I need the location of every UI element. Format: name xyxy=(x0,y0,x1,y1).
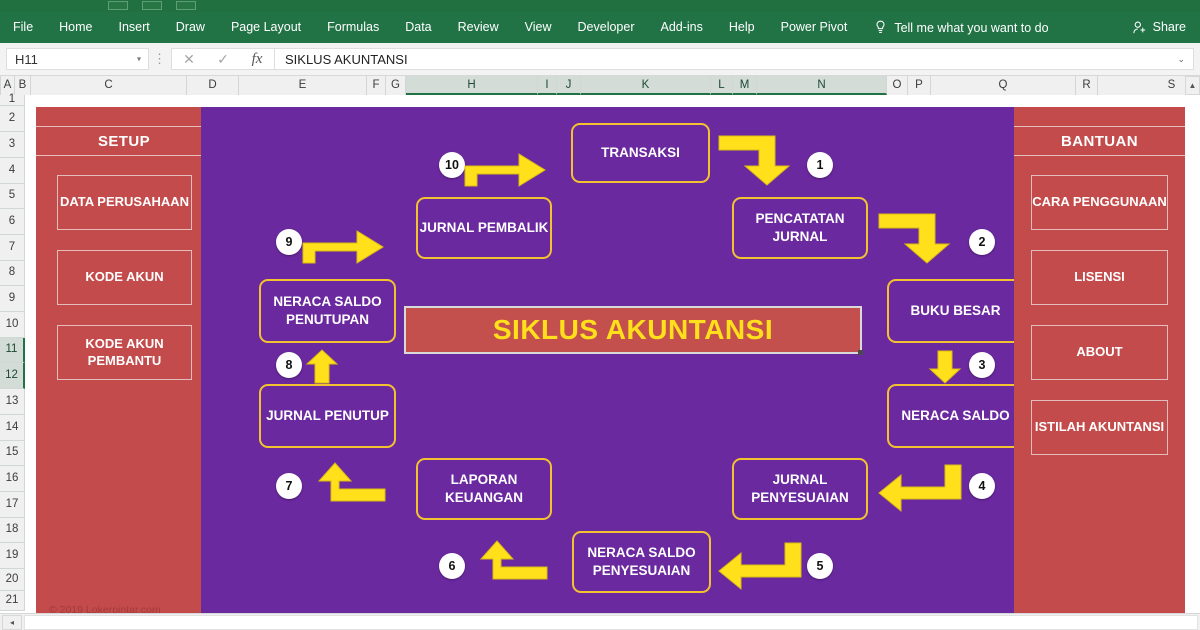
step-badge-2: 2 xyxy=(969,229,995,255)
diagram-node-label: JURNAL PEMBALIK xyxy=(420,219,549,237)
scroll-left-icon[interactable]: ◂ xyxy=(2,615,22,630)
diagram-node-label: BUKU BESAR xyxy=(910,302,1000,320)
arrow-step-4 xyxy=(877,463,963,515)
diagram-node-label: NERACA SALDO xyxy=(901,407,1009,425)
row-header-column: 123456789101112131415161718192021 xyxy=(0,95,25,613)
column-header-row: ABCDEFGHIJKLMNOPQRST xyxy=(0,76,1200,95)
ribbon-tab-home[interactable]: Home xyxy=(46,12,105,43)
column-header-D[interactable]: D xyxy=(187,76,239,95)
row-header-12[interactable]: 12 xyxy=(0,363,25,389)
horizontal-scroll-track[interactable] xyxy=(24,615,1198,630)
diagram-node-label: JURNAL PENYESUAIAN xyxy=(734,471,866,506)
row-header-10[interactable]: 10 xyxy=(0,312,25,338)
setup-panel: SETUP DATA PERUSAHAANKODE AKUNKODE AKUN … xyxy=(36,107,212,613)
formula-bar-buttons: ✕ ✓ fx xyxy=(171,48,275,70)
undo-icon[interactable] xyxy=(142,1,162,10)
share-button[interactable]: Share xyxy=(1132,12,1186,43)
arrow-step-5 xyxy=(717,541,803,593)
row-header-16[interactable]: 16 xyxy=(0,466,25,492)
diagram-title-text: SIKLUS AKUNTANSI xyxy=(493,314,773,346)
help-button-cara-penggunaan[interactable]: CARA PENGGUNAAN xyxy=(1031,175,1168,230)
diagram-node-transaksi[interactable]: TRANSAKSI xyxy=(571,123,710,183)
ribbon-tab-list[interactable]: FileHomeInsertDrawPage LayoutFormulasDat… xyxy=(0,12,860,43)
arrow-step-2 xyxy=(877,211,959,265)
redo-icon[interactable] xyxy=(176,1,196,10)
arrow-step-6 xyxy=(463,541,549,593)
horizontal-scrollbar[interactable]: ◂ xyxy=(0,613,1200,630)
help-button-istilah-akuntansi[interactable]: ISTILAH AKUNTANSI xyxy=(1031,400,1168,455)
formula-input[interactable]: SIKLUS AKUNTANSI ⌄ xyxy=(275,48,1194,70)
row-header-20[interactable]: 20 xyxy=(0,569,25,591)
help-button-lisensi[interactable]: LISENSI xyxy=(1031,250,1168,305)
accounting-cycle-diagram: TRANSAKSIPENCATATAN JURNALBUKU BESARNERA… xyxy=(201,107,1014,613)
diagram-node-label: TRANSAKSI xyxy=(601,144,680,162)
share-person-icon xyxy=(1132,20,1147,35)
row-header-15[interactable]: 15 xyxy=(0,441,25,466)
diagram-node-jurnal-pembalik[interactable]: JURNAL PEMBALIK xyxy=(416,197,552,259)
column-header-M[interactable]: M xyxy=(733,76,757,95)
row-header-9[interactable]: 9 xyxy=(0,286,25,312)
column-header-I[interactable]: I xyxy=(538,76,557,95)
diagram-node-label: JURNAL PENUTUP xyxy=(266,407,389,425)
setup-button-data-perusahaan[interactable]: DATA PERUSAHAAN xyxy=(57,175,192,230)
column-header-B[interactable]: B xyxy=(15,76,31,95)
excel-window: FileHomeInsertDrawPage LayoutFormulasDat… xyxy=(0,0,1200,630)
copyright-label: © 2019 Lokerpintar.com xyxy=(49,604,161,613)
row-header-11[interactable]: 11 xyxy=(0,338,25,363)
step-badge-10: 10 xyxy=(439,152,465,178)
cancel-icon[interactable]: ✕ xyxy=(172,51,206,68)
name-box[interactable]: H11 ▾ xyxy=(6,48,149,70)
row-header-13[interactable]: 13 xyxy=(0,389,25,415)
diagram-node-neraca-saldo-penutupan[interactable]: NERACA SALDO PENUTUPAN xyxy=(259,279,396,343)
row-header-8[interactable]: 8 xyxy=(0,261,25,286)
ribbon-tab-file[interactable]: File xyxy=(0,12,46,43)
chevron-down-icon[interactable]: ▾ xyxy=(137,55,141,64)
quick-access-toolbar[interactable] xyxy=(108,1,196,10)
formula-bar: H11 ▾ ⋮ ✕ ✓ fx SIKLUS AKUNTANSI ⌄ xyxy=(0,43,1200,76)
ribbon-tab-draw[interactable]: Draw xyxy=(163,12,218,43)
step-badge-4: 4 xyxy=(969,473,995,499)
tell-me-search[interactable]: Tell me what you want to do xyxy=(874,20,1048,35)
setup-panel-title: SETUP xyxy=(36,126,212,156)
step-badge-9: 9 xyxy=(276,229,302,255)
worksheet-canvas: SETUP DATA PERUSAHAANKODE AKUNKODE AKUN … xyxy=(25,95,1185,613)
column-header-R[interactable]: R xyxy=(1076,76,1098,95)
ribbon-tab-insert[interactable]: Insert xyxy=(106,12,163,43)
ribbon-tabs-bar: FileHomeInsertDrawPage LayoutFormulasDat… xyxy=(0,12,1200,43)
ribbon-tab-review[interactable]: Review xyxy=(445,12,512,43)
column-header-E[interactable]: E xyxy=(239,76,367,95)
arrow-step-10 xyxy=(463,142,549,188)
row-header-1[interactable]: 1 xyxy=(0,95,25,106)
ribbon-tab-developer[interactable]: Developer xyxy=(565,12,648,43)
arrow-step-8 xyxy=(307,349,339,385)
expand-formula-bar-icon[interactable]: ⌄ xyxy=(1177,54,1185,65)
select-all-corner[interactable] xyxy=(0,76,1,95)
column-header-C[interactable]: C xyxy=(31,76,187,95)
ribbon-tab-data[interactable]: Data xyxy=(392,12,444,43)
save-icon[interactable] xyxy=(108,1,128,10)
arrow-step-9 xyxy=(301,219,387,265)
ribbon-tab-power-pivot[interactable]: Power Pivot xyxy=(768,12,861,43)
column-header-K[interactable]: K xyxy=(581,76,711,95)
diagram-node-buku-besar[interactable]: BUKU BESAR xyxy=(887,279,1014,343)
step-badge-7: 7 xyxy=(276,473,302,499)
diagram-node-label: NERACA SALDO PENUTUPAN xyxy=(261,293,394,328)
lightbulb-icon xyxy=(874,20,887,35)
title-bar xyxy=(0,0,1200,12)
row-header-2[interactable]: 2 xyxy=(0,106,25,132)
step-badge-8: 8 xyxy=(276,352,302,378)
row-header-17[interactable]: 17 xyxy=(0,492,25,518)
help-panel: BANTUAN CARA PENGGUNAANLISENSIABOUTISTIL… xyxy=(1014,107,1185,613)
row-header-5[interactable]: 5 xyxy=(0,184,25,209)
column-header-G[interactable]: G xyxy=(386,76,406,95)
arrow-step-3 xyxy=(930,349,962,385)
diagram-node-jurnal-penutup[interactable]: JURNAL PENUTUP xyxy=(259,384,396,448)
confirm-icon[interactable]: ✓ xyxy=(206,51,240,68)
scroll-up-button[interactable]: ▲ xyxy=(1185,76,1200,95)
step-badge-1: 1 xyxy=(807,152,833,178)
diagram-node-jurnal-penyesuaian[interactable]: JURNAL PENYESUAIAN xyxy=(732,458,868,520)
column-header-L[interactable]: L xyxy=(711,76,733,95)
row-header-4[interactable]: 4 xyxy=(0,158,25,184)
formula-value: SIKLUS AKUNTANSI xyxy=(285,52,408,67)
ribbon-tab-add-ins[interactable]: Add-ins xyxy=(648,12,716,43)
step-badge-5: 5 xyxy=(807,553,833,579)
diagram-node-label: LAPORAN KEUANGAN xyxy=(418,471,550,506)
arrow-step-1 xyxy=(717,133,799,187)
column-header-O[interactable]: O xyxy=(887,76,908,95)
row-header-7[interactable]: 7 xyxy=(0,235,25,261)
diagram-node-label: PENCATATAN JURNAL xyxy=(734,210,866,245)
ribbon-tab-help[interactable]: Help xyxy=(716,12,768,43)
column-header-Q[interactable]: Q xyxy=(931,76,1076,95)
column-header-N[interactable]: N xyxy=(757,76,887,95)
name-box-value: H11 xyxy=(15,52,38,67)
arrow-step-7 xyxy=(301,463,387,515)
step-badge-3: 3 xyxy=(969,352,995,378)
row-header-6[interactable]: 6 xyxy=(0,209,25,235)
column-header-P[interactable]: P xyxy=(908,76,931,95)
row-header-3[interactable]: 3 xyxy=(0,132,25,158)
help-button-about[interactable]: ABOUT xyxy=(1031,325,1168,380)
step-badge-6: 6 xyxy=(439,553,465,579)
setup-button-kode-akun[interactable]: KODE AKUN xyxy=(57,250,192,305)
row-header-19[interactable]: 19 xyxy=(0,543,25,569)
ribbon-tab-page-layout[interactable]: Page Layout xyxy=(218,12,314,43)
diagram-node-laporan-keuangan[interactable]: LAPORAN KEUANGAN xyxy=(416,458,552,520)
diagram-title-banner: SIKLUS AKUNTANSI xyxy=(404,306,862,354)
row-header-14[interactable]: 14 xyxy=(0,415,25,441)
help-panel-title: BANTUAN xyxy=(1014,126,1185,156)
column-header-H[interactable]: H xyxy=(406,76,538,95)
row-header-18[interactable]: 18 xyxy=(0,518,25,543)
tell-me-label: Tell me what you want to do xyxy=(894,21,1048,35)
column-header-A[interactable]: A xyxy=(1,76,15,95)
formula-bar-grip[interactable]: ⋮ xyxy=(149,51,171,67)
setup-button-kode-akun-pembantu[interactable]: KODE AKUN PEMBANTU xyxy=(57,325,192,380)
column-header-J[interactable]: J xyxy=(557,76,581,95)
column-header-list: ABCDEFGHIJKLMNOPQRST xyxy=(1,76,1200,94)
diagram-node-neraca-saldo-penyesuaian[interactable]: NERACA SALDO PENYESUAIAN xyxy=(572,531,711,593)
share-label: Share xyxy=(1153,12,1186,43)
column-header-F[interactable]: F xyxy=(367,76,386,95)
diagram-node-label: NERACA SALDO PENYESUAIAN xyxy=(574,544,709,579)
ribbon-tab-formulas[interactable]: Formulas xyxy=(314,12,392,43)
diagram-node-pencatatan-jurnal[interactable]: PENCATATAN JURNAL xyxy=(732,197,868,259)
row-header-21[interactable]: 21 xyxy=(0,591,25,611)
insert-function-icon[interactable]: fx xyxy=(240,51,274,68)
ribbon-tab-view[interactable]: View xyxy=(512,12,565,43)
diagram-node-neraca-saldo[interactable]: NERACA SALDO xyxy=(887,384,1014,448)
